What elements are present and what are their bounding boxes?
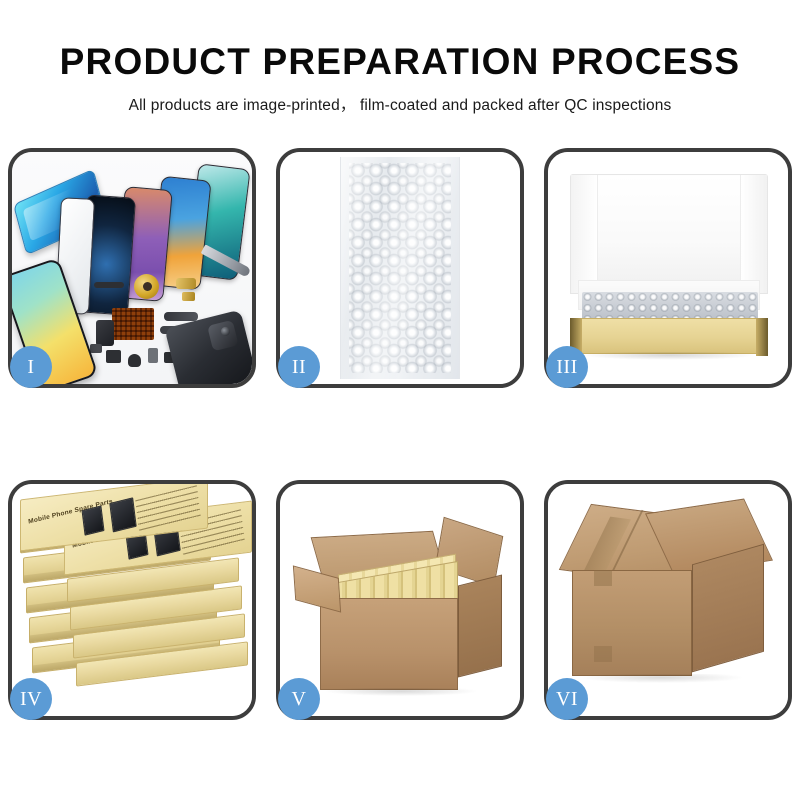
- part-chip-1: [106, 350, 121, 363]
- product-preparation-infographic: PRODUCT PREPARATION PROCESS All products…: [0, 0, 800, 800]
- header: PRODUCT PREPARATION PROCESS All products…: [0, 0, 800, 115]
- part-chip-2: [148, 348, 158, 363]
- step-panel-4: Mobile Phone Spare Parts Mobile Phone Sp…: [8, 480, 256, 720]
- part-connector-bar: [94, 282, 124, 288]
- page-title: PRODUCT PREPARATION PROCESS: [0, 40, 800, 84]
- step-badge-3: III: [546, 346, 588, 388]
- step-badge-4: IV: [10, 678, 52, 720]
- part-button-1: [128, 354, 141, 367]
- part-chip-grid: [112, 308, 154, 340]
- process-steps-grid: I II III: [8, 148, 792, 720]
- step-badge-6: VI: [546, 678, 588, 720]
- packing-tape-upper: [594, 570, 612, 586]
- step-badge-1: I: [10, 346, 52, 388]
- box-shadow: [582, 352, 756, 360]
- open-shipping-carton: [294, 510, 506, 696]
- carton-front-face: [572, 570, 692, 676]
- part-speaker-coil: [134, 274, 159, 299]
- sealed-carton-shadow: [582, 674, 742, 683]
- bubble-wrap-icon: [280, 152, 520, 384]
- page-subtitle: All products are image-printed， film-coa…: [0, 93, 800, 115]
- part-flex-cable-1: [96, 320, 114, 346]
- kraft-box-stack: Mobile Phone Spare Parts Mobile Phone Sp…: [20, 506, 244, 702]
- part-flex-cable-2: [164, 312, 198, 321]
- step-badge-2: II: [278, 346, 320, 388]
- part-gold-contact-1: [176, 278, 196, 289]
- part-gold-contact-2: [182, 292, 195, 301]
- carton-shadow: [326, 688, 476, 696]
- film-sheen: [341, 157, 459, 379]
- open-inner-box-icon: [548, 152, 788, 384]
- part-chip-4: [90, 344, 102, 353]
- open-carton-icon: [280, 484, 520, 716]
- bubble-wrap-sheet: [340, 157, 460, 379]
- phone-parts-icon: [12, 152, 252, 384]
- inner-box-base: [570, 318, 768, 354]
- step-panel-2: II: [276, 148, 524, 388]
- packing-tape-lower: [594, 646, 612, 662]
- carton-side-face: [692, 544, 764, 673]
- box-print-screen-1: [81, 505, 104, 535]
- sealed-carton-icon: [548, 484, 788, 716]
- step-panel-3: III: [544, 148, 792, 388]
- inner-box-lid: [570, 174, 768, 294]
- box-print-text-lines-back: [135, 485, 200, 531]
- box-stack-icon: Mobile Phone Spare Parts Mobile Phone Sp…: [12, 484, 252, 716]
- carton-side-panel: [458, 575, 502, 678]
- step-panel-5: V: [276, 480, 524, 720]
- sealed-shipping-carton: [564, 514, 774, 694]
- step-panel-1: I: [8, 148, 256, 388]
- step-panel-6: VI: [544, 480, 792, 720]
- box-print-screen-2: [109, 497, 136, 532]
- step-badge-5: V: [278, 678, 320, 720]
